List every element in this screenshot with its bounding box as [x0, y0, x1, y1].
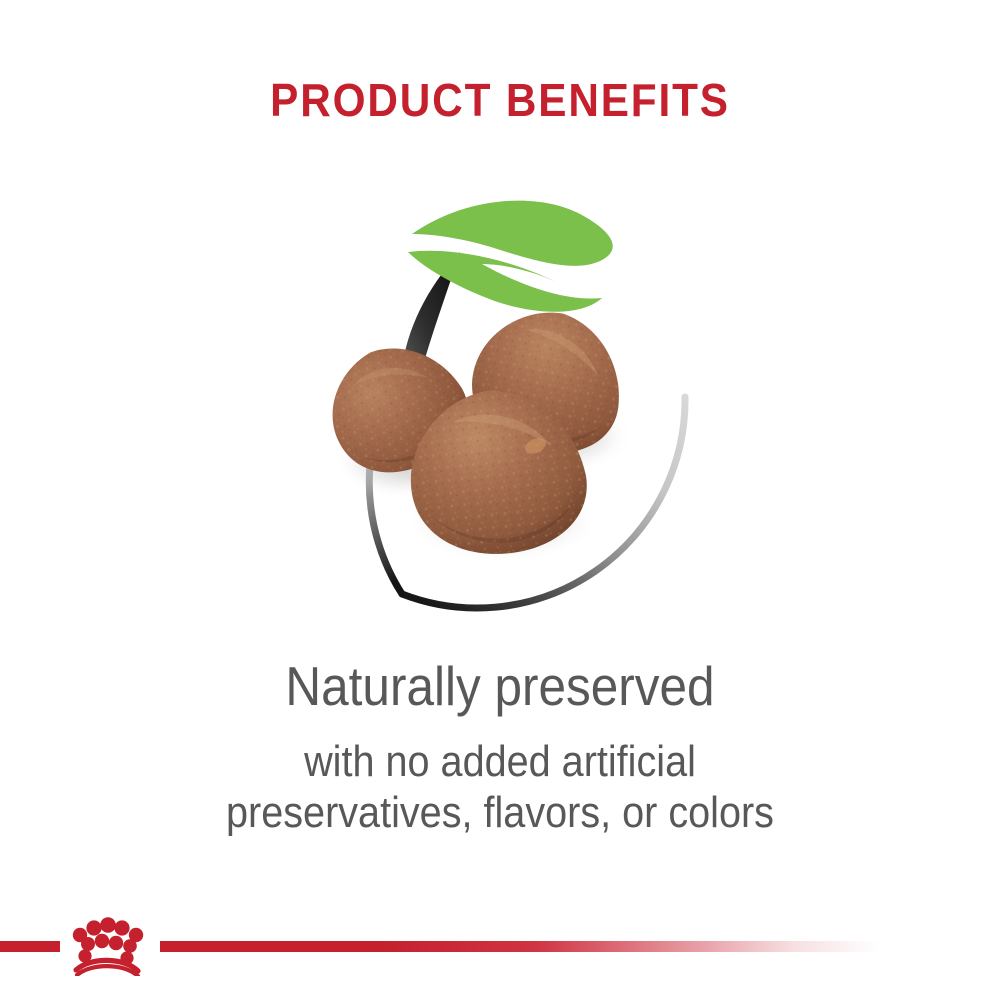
hero-illustration — [280, 190, 730, 630]
royal-canin-crown-logo — [56, 914, 156, 976]
product-benefits-page: PRODUCT BENEFITS — [0, 0, 1000, 1000]
footer-rule-left — [0, 941, 60, 952]
subline-1: with no added artificial — [50, 737, 950, 787]
footer-brand-bar — [0, 900, 1000, 1000]
natural-kibble-badge-graphic — [280, 190, 730, 630]
footer-rule-right — [160, 941, 880, 952]
headline: Naturally preserved — [50, 655, 950, 717]
kibble-pieces-image — [310, 298, 635, 563]
subline-2: preservatives, flavors, or colors — [50, 788, 950, 838]
crown-icon — [56, 914, 156, 976]
page-title: PRODUCT BENEFITS — [40, 72, 960, 128]
